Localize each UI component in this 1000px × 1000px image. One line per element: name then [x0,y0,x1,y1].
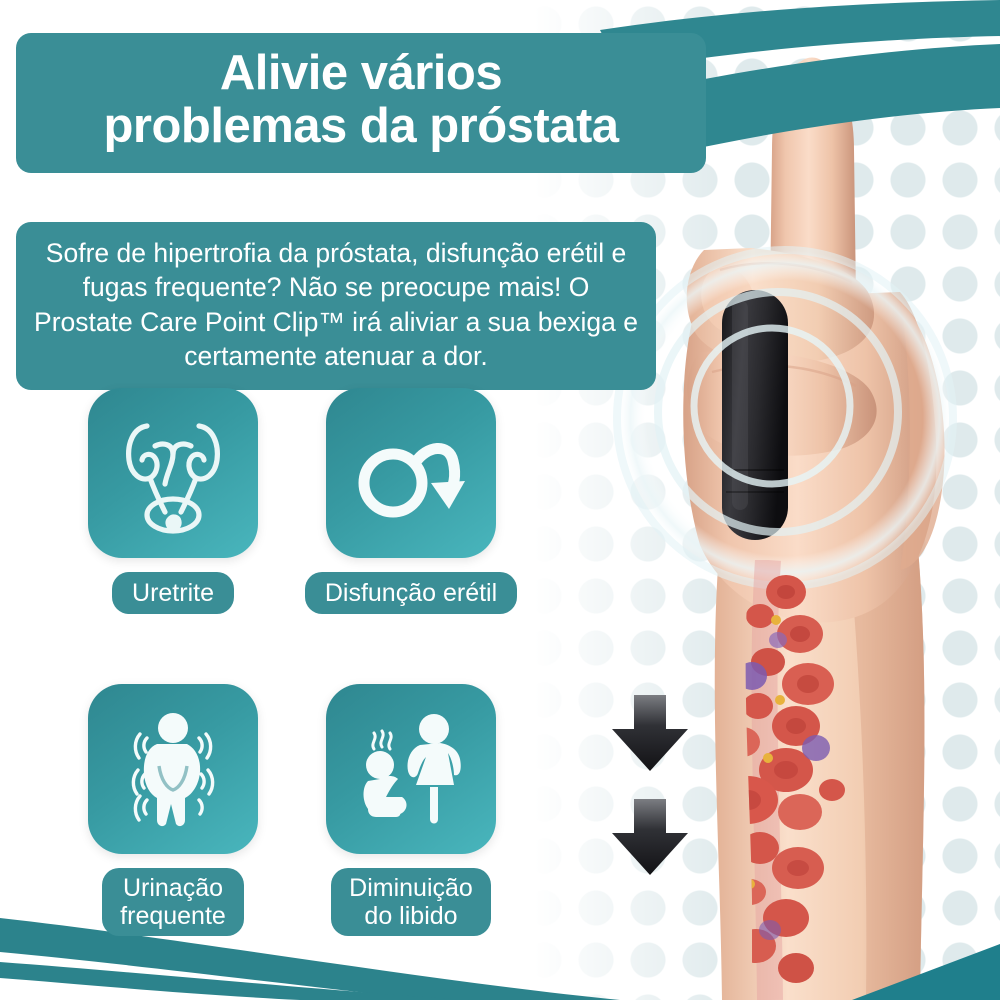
feature-icon-tile [326,388,496,558]
arrow-down-icon [608,799,692,877]
feature-diminuicao-libido[interactable]: Diminuição do libido [326,684,496,936]
low-libido-couple-icon [350,709,472,829]
feature-label: Uretrite [112,572,234,614]
features-grid: Uretrite Disfunção erétil [88,388,548,936]
feature-label: Disfunção erétil [305,572,517,614]
feature-label-text: Diminuição [349,874,473,902]
arrow-down-icon [608,695,692,773]
feature-label-text: Urinação [120,874,226,902]
headline-line-2: problemas da próstata [34,100,688,153]
feature-urinacao-frequente[interactable]: Urinação frequente [88,684,258,936]
feature-disfuncao-eretil[interactable]: Disfunção erétil [326,388,496,614]
feature-icon-tile [88,684,258,854]
man-holding-urgency-icon [117,708,229,830]
feature-label-text-2: do libido [349,902,473,930]
feature-label: Diminuição do libido [331,868,491,936]
page-title: Alivie vários problemas da próstata [16,33,706,173]
feature-label-text: Uretrite [132,579,214,607]
feature-icon-tile [88,388,258,558]
down-arrows [608,695,698,877]
male-symbol-droop-icon [353,421,469,525]
feature-label: Urinação frequente [102,868,244,936]
headline-line-1: Alivie vários [220,46,502,100]
swoosh-bottom-3 [0,962,470,1000]
feature-label-text: Disfunção erétil [325,579,497,607]
feature-label-text-2: frequente [120,902,226,930]
feature-uretrite[interactable]: Uretrite [88,388,258,614]
subtitle-text: Sofre de hipertrofia da próstata, disfun… [16,222,656,390]
feature-icon-tile [326,684,496,854]
urinary-system-icon [117,412,229,534]
promo-banner: Alivie vários problemas da próstata Sofr… [0,0,1000,1000]
